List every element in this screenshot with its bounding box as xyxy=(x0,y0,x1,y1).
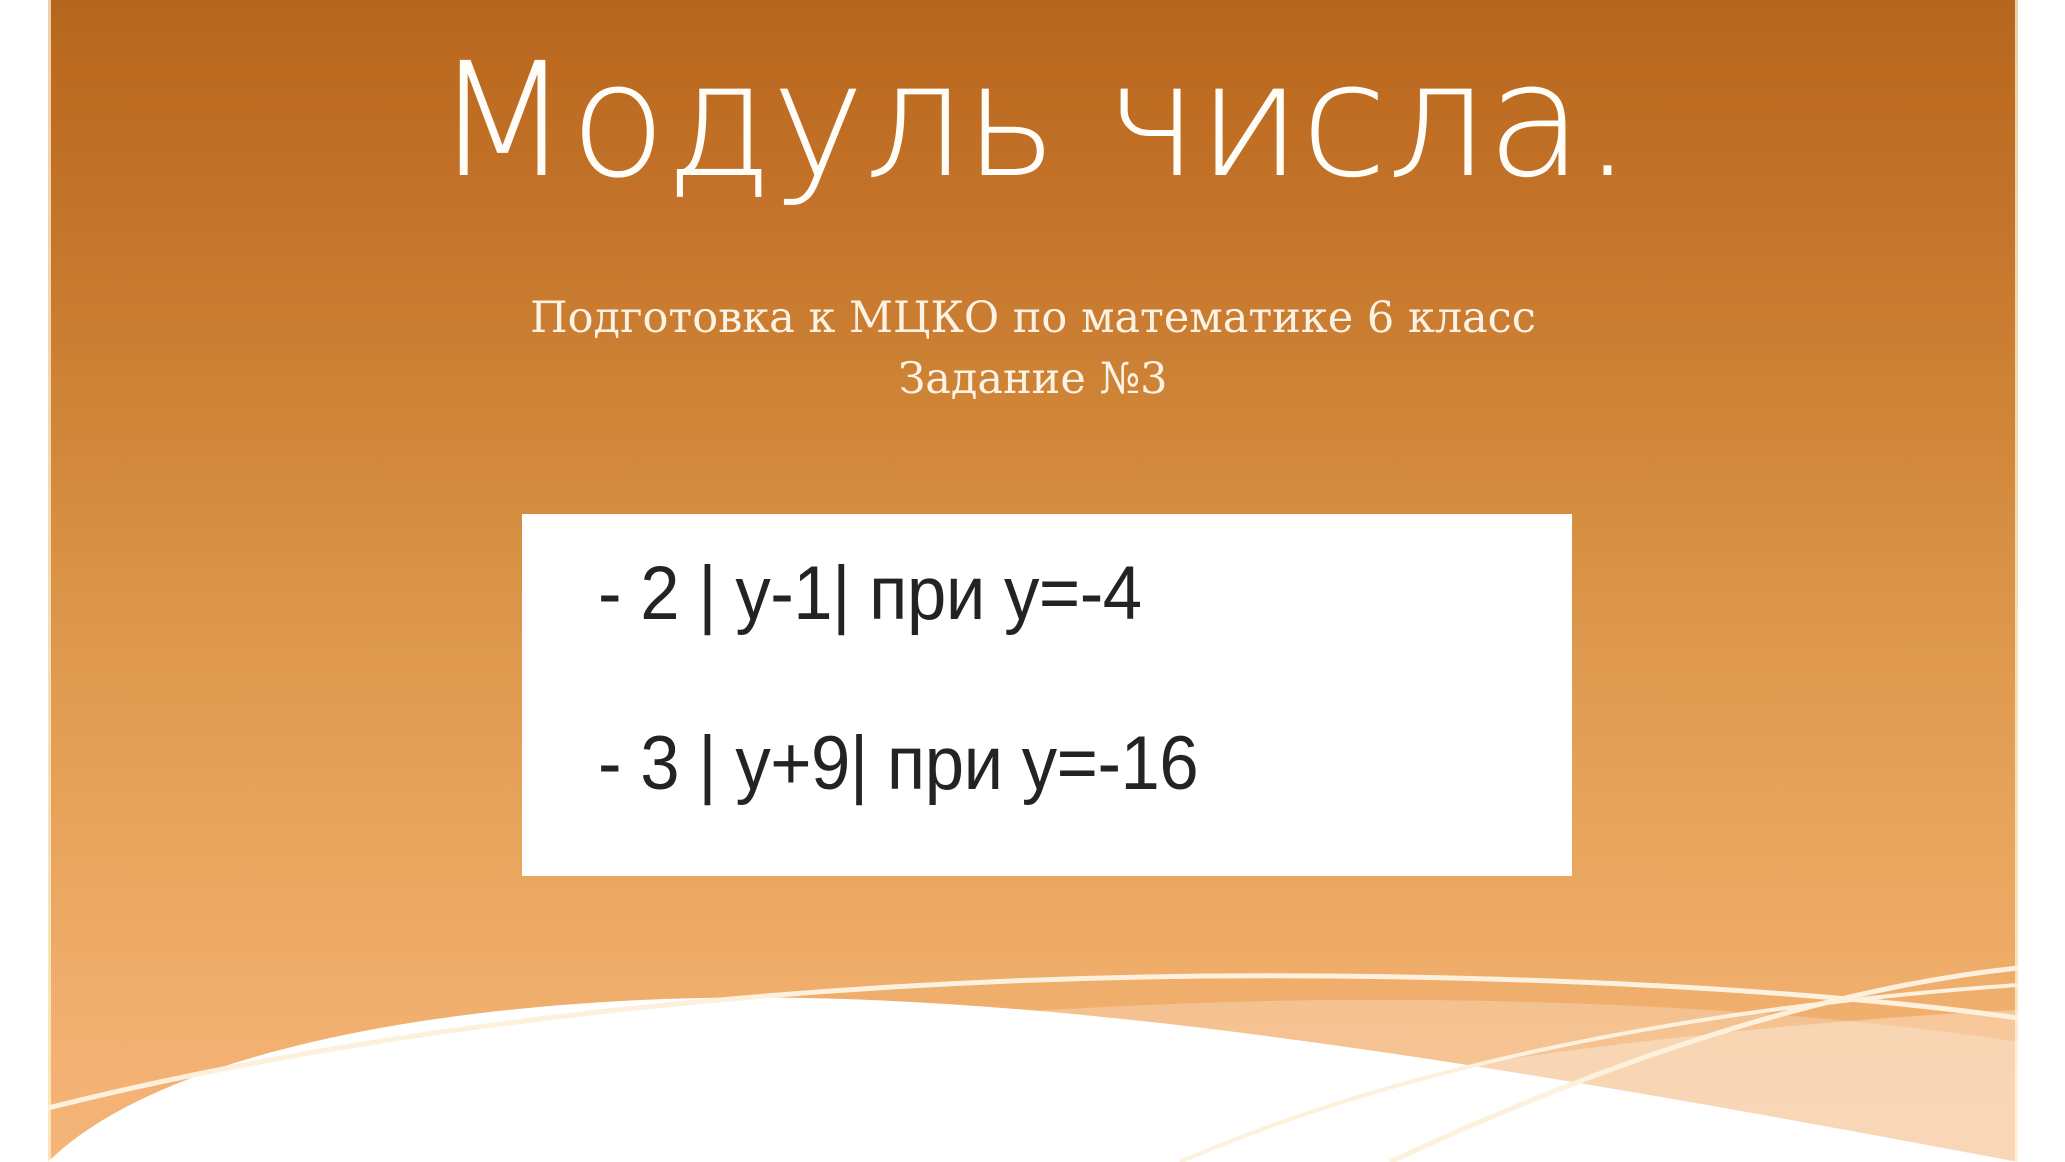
formula-expression-2: - 3 | у+9| при у=-16 xyxy=(598,726,1504,802)
formula-content-card: - 2 | у-1| при у=-4 - 3 | у+9| при у=-16 xyxy=(522,514,1572,876)
slide-title: Модуль числа. xyxy=(48,36,2018,207)
subtitle-line-course: Подготовка к МЦКО по математике 6 класс xyxy=(48,288,2018,349)
subtitle-line-task-number: Задание №3 xyxy=(48,349,2018,410)
formula-expression-1: - 2 | у-1| при у=-4 xyxy=(598,556,1504,632)
slide-subtitle: Подготовка к МЦКО по математике 6 класс … xyxy=(48,288,2018,410)
presentation-slide: Модуль числа. Подготовка к МЦКО по матем… xyxy=(0,0,2065,1162)
